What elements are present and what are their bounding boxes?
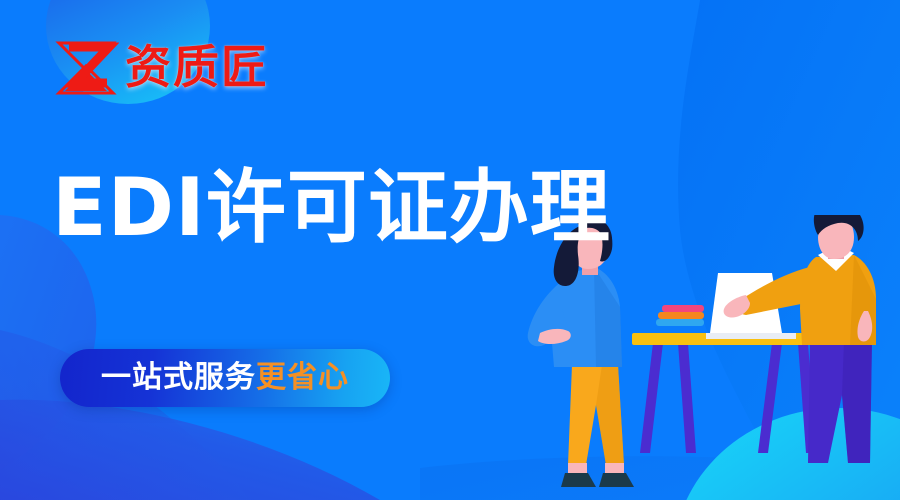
subtitle-badge: 一站式服务更省心 <box>60 349 390 407</box>
book-top <box>662 305 704 312</box>
woman-shoe-left <box>561 473 596 487</box>
z-hourglass-mark <box>55 37 119 97</box>
subtitle-primary: 一站式服务 <box>101 360 256 395</box>
book-bottom <box>656 319 704 326</box>
book-stack <box>656 305 704 326</box>
woman-shoe-right <box>599 473 634 487</box>
subtitle-text-group: 一站式服务更省心 <box>101 363 349 393</box>
standing-woman-figure <box>528 216 634 487</box>
laptop-base <box>706 333 796 339</box>
desk-leg-2 <box>678 343 696 453</box>
page-title: EDI许可证办理 <box>52 165 611 251</box>
desk-leg-1 <box>640 343 663 453</box>
book-middle <box>658 312 704 319</box>
desk-leg-3 <box>758 343 782 453</box>
man-pants-shade <box>842 340 872 463</box>
woman-pants-shade <box>596 365 624 465</box>
subtitle-accent: 更省心 <box>256 360 349 395</box>
people-illustration <box>510 215 900 500</box>
promo-banner: 资质匠 EDI许可证办理 一站式服务更省心 <box>0 0 900 500</box>
brand-logo[interactable]: 资质匠 <box>55 36 269 98</box>
work-desk <box>632 333 822 453</box>
brand-name: 资质匠 <box>125 44 269 90</box>
